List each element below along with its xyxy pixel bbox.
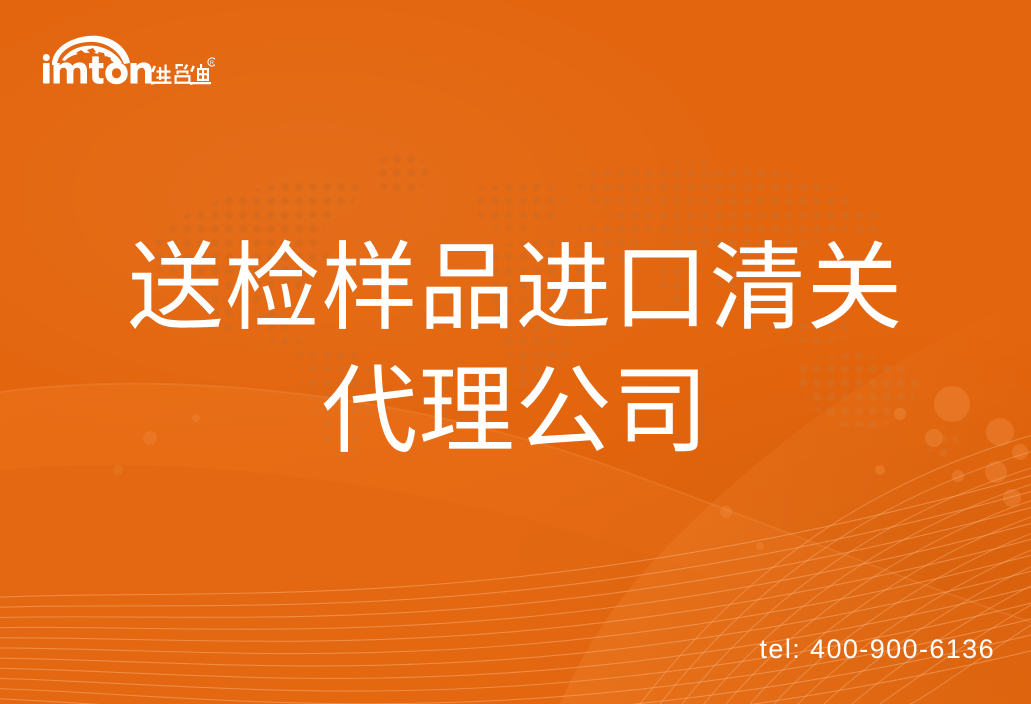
brand-logo-mark: R: [40, 30, 215, 98]
headline-line-1: 送检样品进口清关: [0, 228, 1031, 351]
registered-trademark-icon: R: [208, 58, 215, 67]
svg-text:R: R: [210, 60, 214, 66]
contact-telephone[interactable]: tel: 400-900-6136: [760, 634, 995, 665]
brand-wordmark-chinese: R: [151, 58, 215, 85]
promo-banner: R 送检样品进口清关 代理公司 tel: 400-900-6136: [0, 0, 1031, 704]
headline-line-2: 代理公司: [0, 351, 1031, 474]
brand-wordmark-latin: [43, 54, 152, 84]
page-title: 送检样品进口清关 代理公司: [0, 228, 1031, 474]
brand-logo[interactable]: R: [40, 30, 215, 98]
globe-icon: [52, 36, 130, 65]
